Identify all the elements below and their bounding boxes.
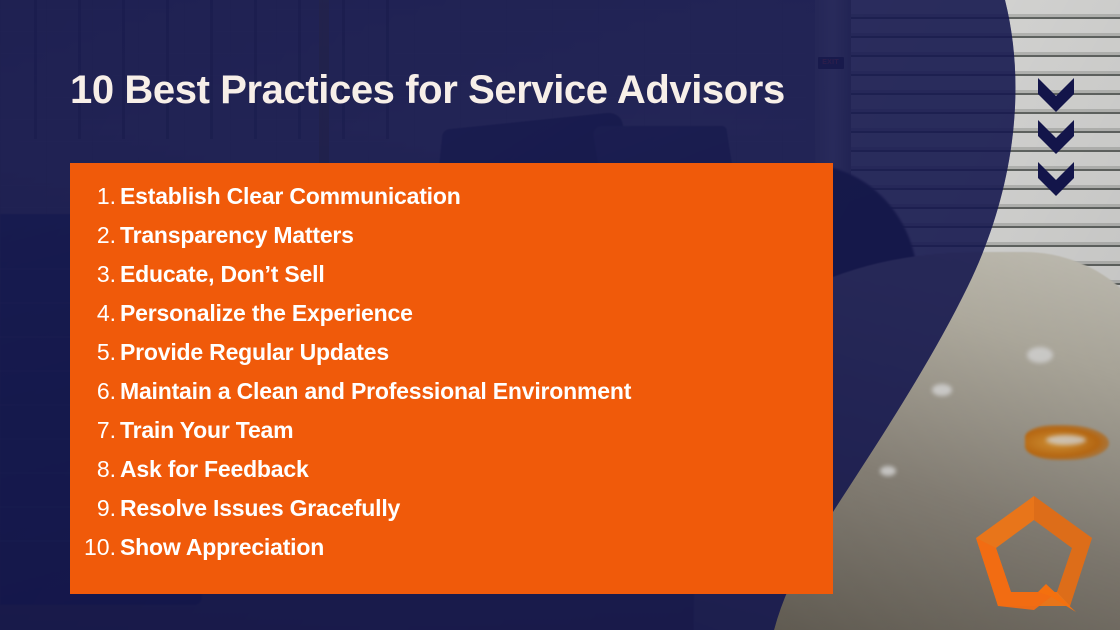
best-practices-list: 1. Establish Clear Communication 2. Tran… [70, 185, 833, 575]
list-item-label: Educate, Don’t Sell [120, 263, 325, 286]
list-item-number: 7. [70, 419, 116, 442]
list-item-number: 2. [70, 224, 116, 247]
list-item-number: 6. [70, 380, 116, 403]
list-item-number: 1. [70, 185, 116, 208]
chevron-down-icon [1038, 162, 1074, 196]
chevron-down-icon [1038, 78, 1074, 112]
list-item: 6. Maintain a Clean and Professional Env… [70, 380, 833, 419]
list-item: 9. Resolve Issues Gracefully [70, 497, 833, 536]
list-item: 5. Provide Regular Updates [70, 341, 833, 380]
page-title: 10 Best Practices for Service Advisors [70, 68, 785, 113]
list-item-label: Transparency Matters [120, 224, 354, 247]
list-item-label: Train Your Team [120, 419, 293, 442]
list-item: 3. Educate, Don’t Sell [70, 263, 833, 302]
list-item-label: Ask for Feedback [120, 458, 309, 481]
list-item-number: 4. [70, 302, 116, 325]
list-item-number: 8. [70, 458, 116, 481]
pentagon-q-logo-icon [972, 492, 1096, 612]
poster-canvas: EXIT 10 Best Practices for Service Advis… [0, 0, 1120, 630]
list-item-number: 3. [70, 263, 116, 286]
list-item: 1. Establish Clear Communication [70, 185, 833, 224]
list-item-label: Personalize the Experience [120, 302, 413, 325]
list-item: 8. Ask for Feedback [70, 458, 833, 497]
list-item-number: 5. [70, 341, 116, 364]
list-item: 10. Show Appreciation [70, 536, 833, 575]
list-item-label: Provide Regular Updates [120, 341, 389, 364]
list-item-number: 9. [70, 497, 116, 520]
list-item-label: Maintain a Clean and Professional Enviro… [120, 380, 631, 403]
list-item-number: 10. [70, 536, 116, 559]
chevron-down-icon-stack [1036, 78, 1076, 196]
list-item-label: Show Appreciation [120, 536, 324, 559]
list-item: 4. Personalize the Experience [70, 302, 833, 341]
chevron-down-icon [1038, 120, 1074, 154]
list-item: 2. Transparency Matters [70, 224, 833, 263]
best-practices-panel: 1. Establish Clear Communication 2. Tran… [70, 163, 833, 594]
list-item-label: Resolve Issues Gracefully [120, 497, 400, 520]
list-item-label: Establish Clear Communication [120, 185, 461, 208]
list-item: 7. Train Your Team [70, 419, 833, 458]
